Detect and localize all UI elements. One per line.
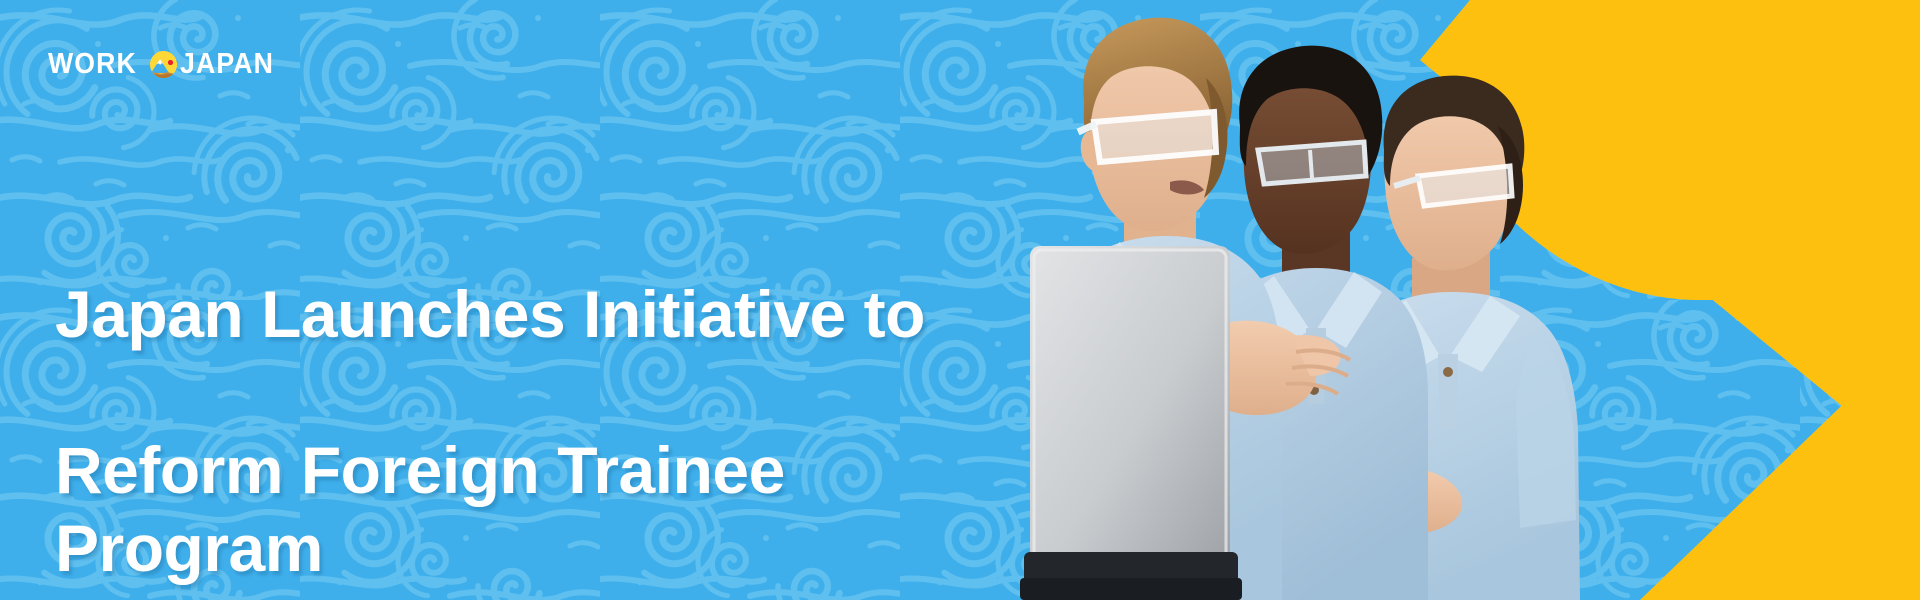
hero-banner: WORK JAPAN Japan Launches Initiative to …: [0, 0, 1920, 600]
headline-line-1: Japan Launches Initiative to: [55, 276, 1055, 354]
page-title: Japan Launches Initiative to Reform Fore…: [55, 198, 1055, 600]
mount-fuji-rising-sun-icon: [150, 51, 177, 78]
logo-word-japan: JAPAN: [180, 50, 274, 79]
headline-line-2: Reform Foreign Trainee Program: [55, 432, 1055, 588]
logo-word-work: WORK: [48, 50, 137, 79]
workjapan-logo[interactable]: WORK JAPAN: [48, 46, 282, 82]
